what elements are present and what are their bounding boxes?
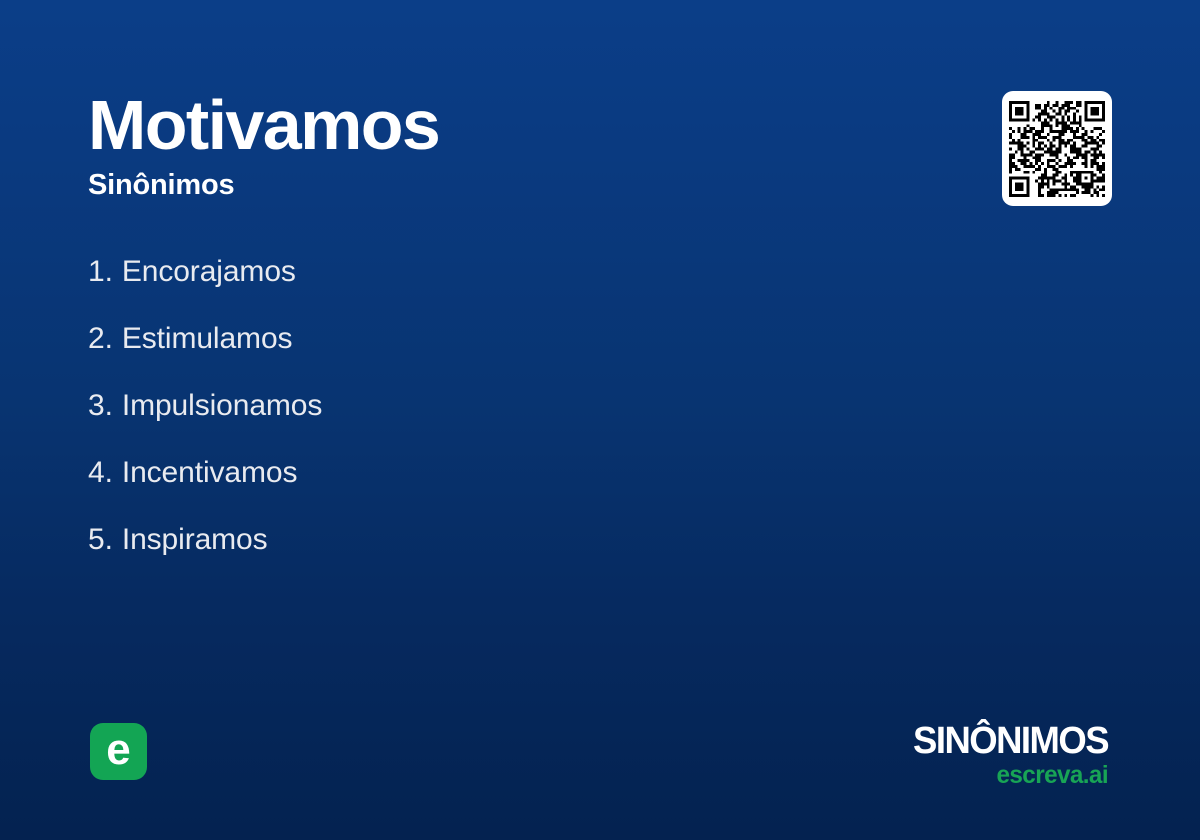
headline-block: Motivamos Sinônimos — [88, 88, 808, 202]
list-item-index: 1. — [88, 255, 113, 289]
footer-logo-wordmark: SINÔNIMOS — [887, 722, 1108, 760]
synonym-card: Motivamos Sinônimos 1. Encorajamos 2. Es… — [0, 0, 1200, 840]
list-item-label: Incentivamos — [122, 456, 298, 490]
list-item-label: Inspiramos — [122, 523, 268, 557]
qr-code-panel[interactable] — [1002, 91, 1112, 206]
escreva-e-logo-icon[interactable]: e — [90, 723, 147, 780]
footer-logo: SINÔNIMOS escreva.ai — [878, 722, 1108, 784]
list-item-label: Encorajamos — [122, 255, 296, 289]
page-subtitle: Sinônimos — [88, 168, 808, 202]
list-item: 2. Estimulamos — [88, 305, 848, 372]
list-item: 1. Encorajamos — [88, 238, 848, 305]
list-item-label: Estimulamos — [122, 322, 293, 356]
list-item-index: 3. — [88, 389, 113, 423]
list-item-index: 5. — [88, 523, 113, 557]
list-item: 3. Impulsionamos — [88, 372, 848, 439]
brand-mark-letter: e — [106, 728, 130, 772]
list-item-index: 4. — [88, 456, 113, 490]
footer-logo-tagline: escreva.ai — [885, 762, 1108, 788]
page-title: Motivamos — [88, 88, 808, 162]
synonym-list: 1. Encorajamos 2. Estimulamos 3. Impulsi… — [88, 238, 848, 573]
list-item: 5. Inspiramos — [88, 506, 848, 573]
list-item-label: Impulsionamos — [122, 389, 322, 423]
list-item: 4. Incentivamos — [88, 439, 848, 506]
list-item-index: 2. — [88, 322, 113, 356]
qr-code-icon — [1009, 101, 1105, 197]
